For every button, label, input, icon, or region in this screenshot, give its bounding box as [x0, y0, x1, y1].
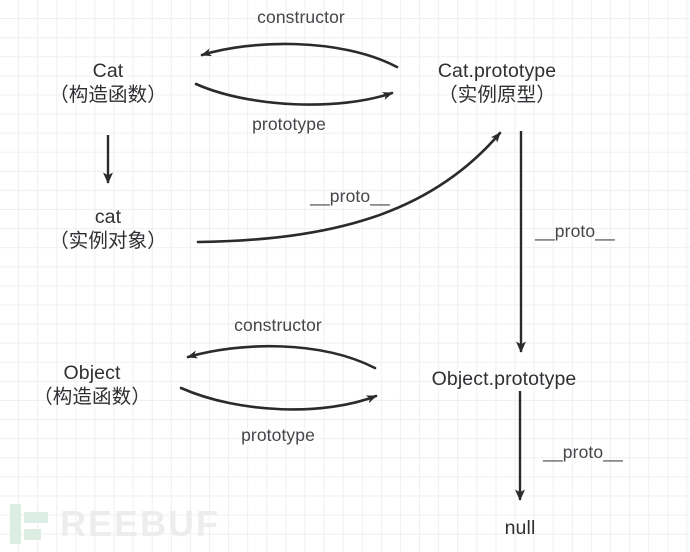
watermark-text: REEBUF: [60, 506, 220, 542]
diagram-canvas: Cat （构造函数） Cat.prototype （实例原型） cat （实例对…: [0, 0, 690, 552]
node-label-primary: Cat: [49, 60, 167, 84]
node-object-prototype[interactable]: Object.prototype: [432, 368, 577, 392]
edge-path-object-prototype: [181, 388, 376, 409]
freebuf-logo-icon: [10, 504, 50, 544]
edge-path-object-constructor: [188, 346, 375, 368]
edge-label-cat-constructor: constructor: [257, 7, 345, 28]
node-label-secondary: （实例对象）: [49, 230, 167, 254]
node-label-primary: null: [505, 517, 536, 541]
logo-bar-bottom: [24, 529, 41, 540]
edge-path-cat-constructor: [202, 44, 397, 67]
node-label-primary: Cat.prototype: [438, 60, 556, 84]
edge-label-object-constructor: constructor: [234, 315, 322, 336]
edge-label-cat-prototype: prototype: [252, 114, 326, 135]
node-label-secondary: （实例原型）: [438, 84, 556, 108]
edge-path-cat-prototype: [196, 84, 392, 105]
node-label-secondary: （构造函数）: [49, 84, 167, 108]
edge-label-object-prototype: prototype: [241, 425, 315, 446]
logo-bar-vertical: [10, 504, 21, 544]
node-cat-constructor[interactable]: Cat （构造函数）: [49, 60, 167, 108]
node-cat-prototype[interactable]: Cat.prototype （实例原型）: [438, 60, 556, 108]
edge-label-objproto-proto: __proto__: [543, 442, 623, 463]
node-label-primary: cat: [49, 206, 167, 230]
node-label-primary: Object.prototype: [432, 368, 577, 392]
node-object-constructor[interactable]: Object （构造函数）: [33, 362, 151, 410]
node-cat-instance[interactable]: cat （实例对象）: [49, 206, 167, 254]
node-label-secondary: （构造函数）: [33, 386, 151, 410]
freebuf-watermark: REEBUF: [10, 504, 220, 544]
edge-label-cat-proto: __proto__: [310, 186, 390, 207]
logo-bar-top: [24, 512, 48, 523]
node-null[interactable]: null: [505, 517, 536, 541]
edge-label-catproto-proto: __proto__: [535, 221, 615, 242]
node-label-primary: Object: [33, 362, 151, 386]
